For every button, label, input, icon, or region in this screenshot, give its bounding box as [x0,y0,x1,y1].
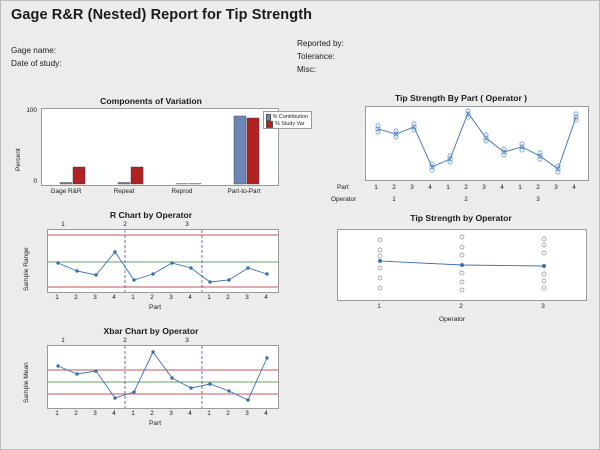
tsbp-part-tick-3: 4 [422,184,438,191]
r-chart-xtick-4: 1 [126,294,140,301]
r-chart-xlabel: Part [149,304,161,311]
tsbp-row-label-operator: Operator [331,196,356,203]
xbar-xtick-7: 4 [183,410,197,417]
tsbp-part-tick-0: 1 [368,184,384,191]
legend-item-studyvar: % Study Var [266,121,308,128]
xbar-xtick-8: 1 [202,410,216,417]
report-page: Gage R&R (Nested) Report for Tip Strengt… [0,0,600,450]
xbar-xtick-4: 1 [126,410,140,417]
components-of-variation-plot [41,108,279,186]
r-chart-panel-label-2: 3 [180,221,194,228]
tsbp-part-tick-4: 1 [440,184,456,191]
xbar-xlabel: Part [149,420,161,427]
xbar-chart-plot [47,345,279,409]
xbar-xtick-1: 2 [69,410,83,417]
r-chart-xtick-3: 4 [107,294,121,301]
xbar-xtick-6: 3 [164,410,178,417]
xbar-chart-ylabel: Sample Mean [23,362,30,403]
tsbp-part-tick-7: 4 [494,184,510,191]
r-chart-xtick-1: 2 [69,294,83,301]
r-chart-title: R Chart by Operator [21,210,281,220]
tsbo-xlabel: Operator [439,316,465,323]
legend-item-contribution: % Contribution [266,114,308,121]
r-chart-xtick-10: 3 [240,294,254,301]
tsbp-operator-tick-0: 1 [386,196,402,203]
r-chart-xtick-6: 3 [164,294,178,301]
covar-xtick-parttopart: Part-to-Part [211,188,277,195]
xbar-xtick-5: 2 [145,410,159,417]
tsbp-part-tick-1: 2 [386,184,402,191]
tip-strength-by-part-plot [365,106,589,181]
legend-swatch-contribution [266,114,271,121]
xbar-xtick-3: 4 [107,410,121,417]
xbar-panel-label-0: 1 [56,337,70,344]
r-chart-xtick-8: 1 [202,294,216,301]
components-of-variation-title: Components of Variation [21,96,281,106]
legend-label-studyvar: % Study Var [275,121,305,128]
xbar-chart-title: Xbar Chart by Operator [21,326,281,336]
r-chart-xtick-5: 2 [145,294,159,301]
covar-ytick-0: 0 [15,178,37,185]
covar-xtick-reprod: Reprod [153,188,211,195]
xbar-panel-label-2: 3 [180,337,194,344]
xbar-panel-label-1: 2 [118,337,132,344]
xbar-xtick-10: 3 [240,410,254,417]
tsbp-part-tick-9: 2 [530,184,546,191]
tsbo-xtick-1: 2 [454,303,468,310]
page-title: Gage R&R (Nested) Report for Tip Strengt… [11,7,312,23]
covar-xtick-repeat: Repeat [95,188,153,195]
tip-strength-by-operator-title: Tip Strength by Operator [331,213,591,223]
r-chart-xtick-9: 2 [221,294,235,301]
misc-label: Misc: [297,65,316,74]
r-chart-xtick-11: 4 [259,294,273,301]
tsbp-row-label-part: Part [337,184,349,191]
xbar-xtick-11: 4 [259,410,273,417]
date-of-study-label: Date of study: [11,59,62,68]
components-of-variation-legend: % Contribution % Study Var [263,111,312,129]
r-chart-plot [47,229,279,293]
tsbp-part-tick-2: 3 [404,184,420,191]
legend-swatch-studyvar [266,121,273,128]
r-chart-ylabel: Sample Range [23,247,30,291]
r-chart-xtick-0: 1 [50,294,64,301]
tip-strength-by-part-title: Tip Strength By Part ( Operator ) [331,93,591,103]
tsbo-xtick-2: 3 [536,303,550,310]
tsbp-operator-tick-2: 3 [530,196,546,203]
legend-label-contribution: % Contribution [273,114,308,121]
r-chart-xtick-7: 4 [183,294,197,301]
xbar-xtick-2: 3 [88,410,102,417]
covar-xtick-gagerr: Gage R&R [37,188,95,195]
tsbp-part-tick-8: 1 [512,184,528,191]
tsbp-part-tick-11: 4 [566,184,582,191]
xbar-xtick-0: 1 [50,410,64,417]
components-of-variation-ylabel: Percent [15,148,22,171]
tip-strength-by-operator-plot [337,229,587,301]
r-chart-panel-label-1: 2 [118,221,132,228]
covar-ytick-100: 100 [15,107,37,114]
r-chart-xtick-2: 3 [88,294,102,301]
tsbp-part-tick-10: 3 [548,184,564,191]
xbar-xtick-9: 2 [221,410,235,417]
tsbo-xtick-0: 1 [372,303,386,310]
gage-name-label: Gage name: [11,46,56,55]
r-chart-panel-label-0: 1 [56,221,70,228]
tolerance-label: Tolerance: [297,52,335,61]
tsbp-part-tick-5: 2 [458,184,474,191]
reported-by-label: Reported by: [297,39,344,48]
tsbp-part-tick-6: 3 [476,184,492,191]
tsbp-operator-tick-1: 2 [458,196,474,203]
